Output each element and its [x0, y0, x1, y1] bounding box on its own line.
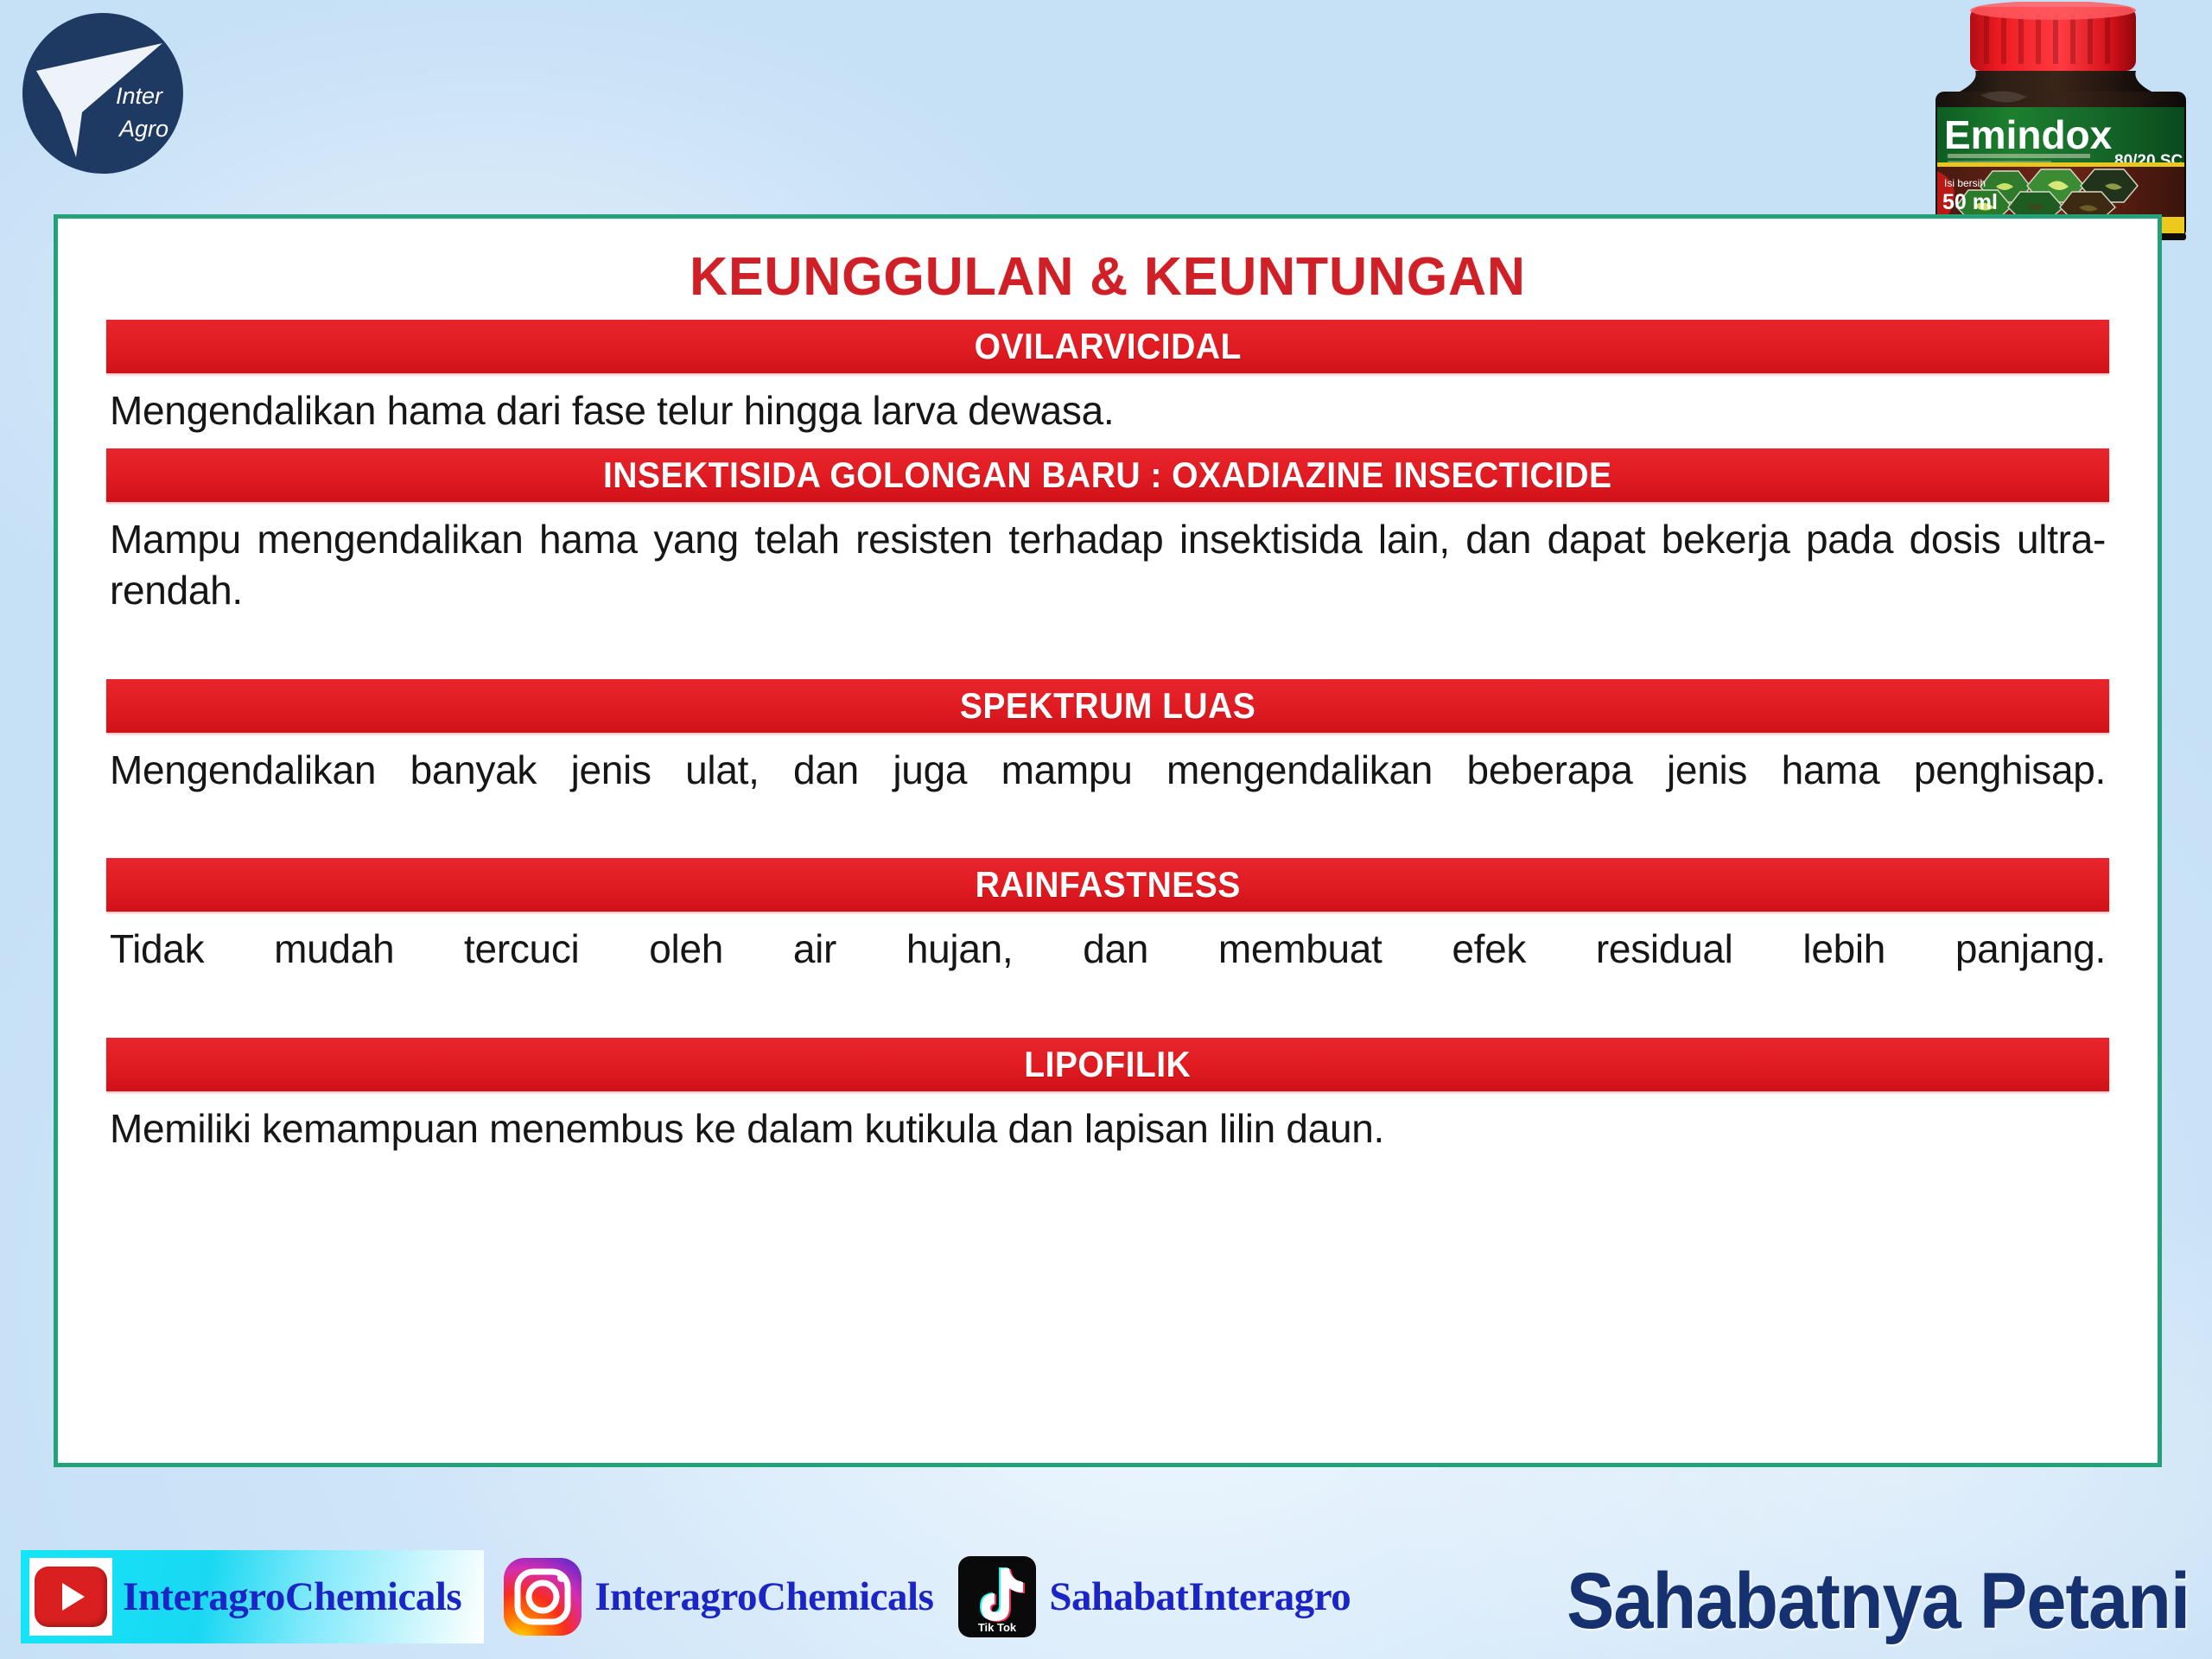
logo-text-line2: Agro	[118, 116, 168, 142]
feature-banner: INSEKTISIDA GOLONGAN BARU : OXADIAZINE I…	[106, 448, 2109, 502]
page-footer: InteragroChemicals	[0, 1478, 2212, 1659]
feature-section: INSEKTISIDA GOLONGAN BARU : OXADIAZINE I…	[58, 448, 2158, 667]
feature-banner-label: RAINFASTNESS	[975, 864, 1240, 906]
feature-banner-label: INSEKTISIDA GOLONGAN BARU : OXADIAZINE I…	[603, 454, 1612, 496]
bottle-volume: 50 ml	[1942, 190, 1998, 214]
feature-banner-label: OVILARVICIDAL	[974, 326, 1241, 367]
feature-section: OVILARVICIDAL Mengendalikan hama dari fa…	[58, 320, 2158, 436]
social-links: InteragroChemicals	[21, 1550, 1351, 1643]
feature-body: Mengendalikan hama dari fase telur hingg…	[110, 385, 2106, 436]
feature-section: LIPOFILIK Memiliki kemampuan menembus ke…	[58, 1038, 2158, 1154]
feature-banner: SPEKTRUM LUAS	[106, 679, 2109, 733]
youtube-handle: InteragroChemicals	[123, 1573, 461, 1620]
feature-section: RAINFASTNESS Tidak mudah tercuci oleh ai…	[58, 858, 2158, 1026]
instagram-icon	[503, 1557, 582, 1637]
social-link-tiktok[interactable]: Tik Tok SahabatInteragro	[933, 1550, 1351, 1643]
feature-banner: RAINFASTNESS	[106, 858, 2109, 912]
feature-banner-label: LIPOFILIK	[1025, 1044, 1192, 1085]
feature-body: Mampu mengendalikan hama yang telah resi…	[110, 514, 2106, 667]
feature-banner-label: SPEKTRUM LUAS	[960, 685, 1255, 727]
page-title: KEUNGGULAN & KEUNTUNGAN	[79, 246, 2136, 308]
social-link-youtube[interactable]: InteragroChemicals	[21, 1550, 484, 1643]
product-bottle-image: Emindox 80/20 SC Isi bersih 50 ml PERHAT	[1929, 2, 2193, 245]
instagram-handle: InteragroChemicals	[594, 1573, 933, 1620]
tiktok-icon: Tik Tok	[957, 1555, 1037, 1638]
feature-banner: OVILARVICIDAL	[106, 320, 2109, 373]
youtube-icon	[29, 1558, 112, 1636]
feature-body: Mengendalikan banyak jenis ulat, dan jug…	[110, 745, 2106, 847]
bottle-volume-caption: Isi bersih	[1944, 177, 1986, 189]
company-logo: Inter Agro	[22, 7, 183, 192]
feature-banner: LIPOFILIK	[106, 1038, 2109, 1091]
features-card: KEUNGGULAN & KEUNTUNGAN OVILARVICIDAL Me…	[54, 214, 2162, 1467]
feature-section: SPEKTRUM LUAS Mengendalikan banyak jenis…	[58, 679, 2158, 847]
social-link-instagram[interactable]: InteragroChemicals	[484, 1550, 933, 1643]
tiktok-handle: SahabatInteragro	[1049, 1573, 1351, 1620]
bottle-product-name: Emindox	[1944, 112, 2113, 157]
feature-body: Tidak mudah tercuci oleh air hujan, dan …	[110, 924, 2106, 1026]
feature-body: Memiliki kemampuan menembus ke dalam kut…	[110, 1103, 2106, 1154]
tiktok-icon-label: Tik Tok	[978, 1621, 1017, 1634]
logo-text-line1: Inter	[116, 83, 163, 109]
tagline: Sahabatnya Petani	[1567, 1556, 2190, 1647]
